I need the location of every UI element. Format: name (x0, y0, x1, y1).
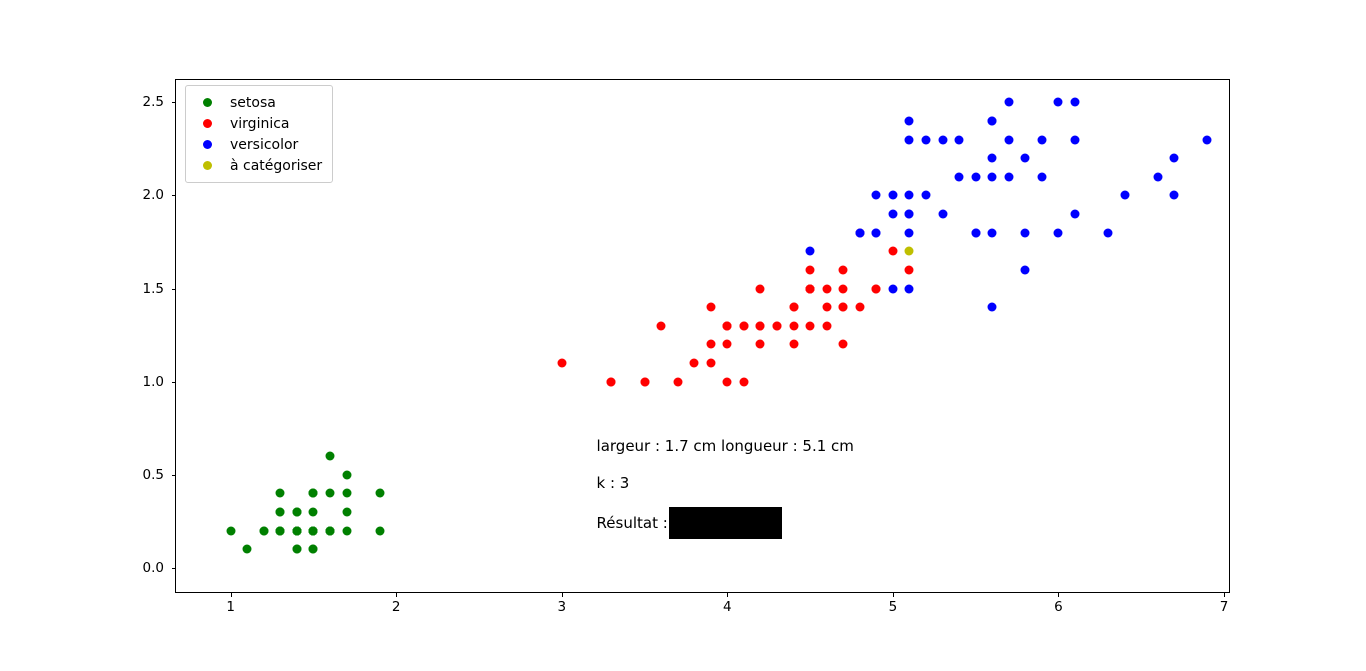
data-point-virginica (756, 321, 765, 330)
data-point-versicolor (1054, 98, 1063, 107)
legend: setosavirginicaversicolorà catégoriser (185, 85, 333, 183)
data-point-virginica (839, 303, 848, 312)
figure-canvas: setosavirginicaversicolorà catégoriser l… (0, 0, 1366, 671)
data-point-versicolor (1120, 191, 1129, 200)
data-point-virginica (789, 321, 798, 330)
legend-item-label: à catégoriser (230, 158, 322, 174)
y-axis-tick (172, 102, 177, 103)
data-point-versicolor (988, 303, 997, 312)
data-point-versicolor (905, 284, 914, 293)
data-point-versicolor (1170, 191, 1179, 200)
data-point-setosa (292, 545, 301, 554)
y-axis-tick (172, 475, 177, 476)
data-point-versicolor (988, 228, 997, 237)
data-point-versicolor (1170, 154, 1179, 163)
data-point-virginica (855, 303, 864, 312)
data-point-versicolor (971, 172, 980, 181)
data-point-versicolor (1004, 172, 1013, 181)
legend-item-versicolor: versicolor (194, 134, 322, 155)
result-annotation: Résultat : (597, 507, 782, 539)
data-point-versicolor (1037, 135, 1046, 144)
data-point-setosa (276, 526, 285, 535)
x-axis-tick-label: 5 (889, 599, 898, 615)
data-point-setosa (342, 470, 351, 479)
data-point-à-catégoriser (905, 247, 914, 256)
data-point-virginica (822, 321, 831, 330)
data-point-versicolor (938, 135, 947, 144)
data-point-virginica (822, 284, 831, 293)
y-axis-tick (172, 568, 177, 569)
data-point-versicolor (1021, 228, 1030, 237)
data-point-virginica (806, 321, 815, 330)
data-point-setosa (276, 508, 285, 517)
y-axis-tick-label: 1.5 (143, 281, 164, 297)
data-point-setosa (325, 452, 334, 461)
result-label: Résultat : (597, 514, 668, 532)
data-point-virginica (872, 284, 881, 293)
legend-item-virginica: virginica (194, 113, 322, 134)
data-point-versicolor (905, 191, 914, 200)
data-point-setosa (243, 545, 252, 554)
data-point-virginica (607, 377, 616, 386)
data-point-versicolor (905, 228, 914, 237)
data-point-setosa (325, 489, 334, 498)
y-axis-tick-label: 0.0 (143, 560, 164, 576)
legend-marker-icon (203, 119, 212, 128)
data-point-virginica (739, 321, 748, 330)
y-axis-tick-label: 1.0 (143, 374, 164, 390)
legend-item-setosa: setosa (194, 92, 322, 113)
data-point-setosa (292, 508, 301, 517)
y-axis-tick-label: 2.5 (143, 94, 164, 110)
data-point-versicolor (806, 247, 815, 256)
result-value-box (669, 507, 782, 539)
x-axis-tick-label: 1 (226, 599, 235, 615)
data-point-virginica (806, 284, 815, 293)
x-axis-tick (1058, 592, 1059, 597)
data-point-versicolor (955, 135, 964, 144)
y-axis-tick-label: 0.5 (143, 467, 164, 483)
data-point-setosa (325, 526, 334, 535)
data-point-versicolor (988, 172, 997, 181)
data-point-versicolor (1071, 210, 1080, 219)
data-point-setosa (375, 489, 384, 498)
data-point-setosa (292, 526, 301, 535)
data-point-virginica (789, 303, 798, 312)
x-axis-tick-label: 7 (1220, 599, 1229, 615)
data-point-virginica (706, 303, 715, 312)
y-axis-tick (172, 195, 177, 196)
data-point-virginica (723, 377, 732, 386)
data-point-virginica (723, 340, 732, 349)
k-value-annotation: k : 3 (597, 474, 630, 492)
data-point-setosa (309, 489, 318, 498)
data-point-virginica (773, 321, 782, 330)
data-point-setosa (309, 545, 318, 554)
x-axis-tick-label: 2 (392, 599, 401, 615)
data-point-setosa (375, 526, 384, 535)
data-point-virginica (690, 359, 699, 368)
data-point-versicolor (988, 154, 997, 163)
data-point-setosa (309, 526, 318, 535)
data-point-setosa (226, 526, 235, 535)
data-point-versicolor (872, 191, 881, 200)
x-axis-tick (231, 592, 232, 597)
data-point-versicolor (1104, 228, 1113, 237)
data-point-versicolor (905, 116, 914, 125)
data-point-versicolor (988, 116, 997, 125)
plot-axes: setosavirginicaversicolorà catégoriser l… (175, 79, 1230, 593)
data-point-virginica (657, 321, 666, 330)
data-point-virginica (839, 265, 848, 274)
data-point-versicolor (1203, 135, 1212, 144)
data-point-versicolor (1021, 265, 1030, 274)
y-axis-tick-label: 2.0 (143, 187, 164, 203)
data-point-virginica (905, 265, 914, 274)
legend-item-label: virginica (230, 116, 290, 132)
y-axis-tick (172, 289, 177, 290)
data-point-versicolor (1153, 172, 1162, 181)
data-point-versicolor (905, 210, 914, 219)
x-axis-tick-label: 4 (723, 599, 732, 615)
data-point-versicolor (1071, 98, 1080, 107)
legend-item-label: setosa (230, 95, 276, 111)
data-point-virginica (888, 247, 897, 256)
data-point-versicolor (1021, 154, 1030, 163)
data-point-virginica (640, 377, 649, 386)
data-point-virginica (756, 340, 765, 349)
legend-marker-icon (203, 98, 212, 107)
data-point-versicolor (1004, 135, 1013, 144)
data-point-virginica (706, 340, 715, 349)
data-point-virginica (756, 284, 765, 293)
data-point-versicolor (955, 172, 964, 181)
data-point-versicolor (1054, 228, 1063, 237)
data-point-virginica (557, 359, 566, 368)
data-point-versicolor (888, 284, 897, 293)
data-point-setosa (342, 508, 351, 517)
x-axis-tick (562, 592, 563, 597)
data-point-versicolor (888, 191, 897, 200)
legend-marker-icon (203, 140, 212, 149)
x-axis-tick (396, 592, 397, 597)
data-point-virginica (723, 321, 732, 330)
legend-marker-icon (203, 161, 212, 170)
data-point-virginica (706, 359, 715, 368)
data-point-versicolor (1004, 98, 1013, 107)
data-point-versicolor (1071, 135, 1080, 144)
x-axis-tick-label: 6 (1054, 599, 1063, 615)
data-point-versicolor (1037, 172, 1046, 181)
x-axis-tick (727, 592, 728, 597)
data-point-virginica (839, 284, 848, 293)
data-point-setosa (276, 489, 285, 498)
data-point-setosa (342, 489, 351, 498)
data-point-versicolor (938, 210, 947, 219)
y-axis-tick (172, 382, 177, 383)
data-point-virginica (806, 265, 815, 274)
x-axis-tick (1224, 592, 1225, 597)
data-point-virginica (739, 377, 748, 386)
data-point-versicolor (872, 228, 881, 237)
data-point-versicolor (905, 135, 914, 144)
measurements-annotation: largeur : 1.7 cm longueur : 5.1 cm (597, 437, 854, 455)
data-point-setosa (342, 526, 351, 535)
legend-item-à-catégoriser: à catégoriser (194, 155, 322, 176)
data-point-setosa (309, 508, 318, 517)
data-point-versicolor (855, 228, 864, 237)
data-point-virginica (822, 303, 831, 312)
data-point-virginica (839, 340, 848, 349)
data-point-virginica (673, 377, 682, 386)
data-point-versicolor (922, 191, 931, 200)
data-point-setosa (259, 526, 268, 535)
data-point-versicolor (971, 228, 980, 237)
data-point-virginica (789, 340, 798, 349)
x-axis-tick (893, 592, 894, 597)
legend-item-label: versicolor (230, 137, 298, 153)
x-axis-tick-label: 3 (557, 599, 566, 615)
data-point-versicolor (922, 135, 931, 144)
data-point-versicolor (888, 210, 897, 219)
